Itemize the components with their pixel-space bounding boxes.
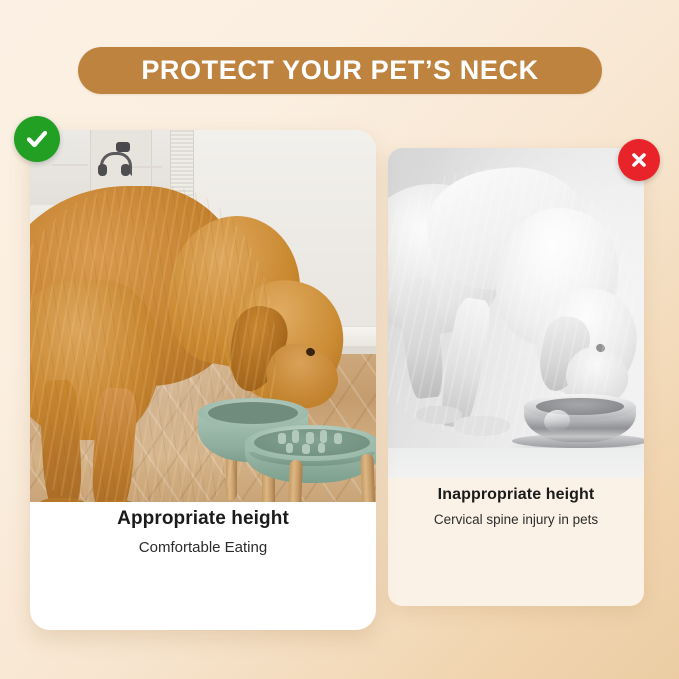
check-icon (24, 126, 50, 152)
page-title: PROTECT YOUR PET’S NECK (141, 55, 538, 86)
slow-feeder-nub (286, 443, 293, 453)
headphone-cup-left (98, 164, 107, 176)
slow-feeder-nub (320, 430, 327, 443)
rear-bowl-interior (208, 402, 298, 424)
cabinet-knob (116, 142, 130, 152)
caption-title-inappropriate: Inappropriate height (388, 486, 644, 504)
comparison-card-appropriate: Appropriate height Comfortable Eating (30, 130, 376, 630)
photo-dog-elevated-bowl (30, 130, 376, 502)
stand-leg-front-right (360, 454, 376, 502)
caption-subtitle-appropriate: Comfortable Eating (30, 539, 376, 557)
caption-appropriate: Appropriate height Comfortable Eating (30, 508, 376, 557)
slow-feeder-nub (292, 430, 299, 443)
bad-photo-light-vignette (388, 148, 644, 478)
cabinet-seam-right (132, 166, 162, 168)
poster-canvas: PROTECT YOUR PET’S NECK (0, 0, 679, 679)
slow-feeder-nub (302, 444, 310, 454)
caption-title-appropriate: Appropriate height (30, 508, 376, 530)
headphone-cup-right (121, 164, 130, 176)
comparison-card-inappropriate: Inappropriate height Cervical spine inju… (388, 148, 644, 606)
close-icon (629, 150, 649, 170)
cabinet-seam-left (52, 164, 88, 166)
photo-dog-floor-bowl (388, 148, 644, 478)
slow-feeder-nub (318, 443, 325, 453)
slow-feeder-nub (334, 433, 342, 444)
caption-inappropriate: Inappropriate height Cervical spine inju… (388, 486, 644, 529)
slow-feeder-nub (306, 432, 314, 444)
x-badge (618, 139, 660, 181)
caption-subtitle-inappropriate: Cervical spine injury in pets (388, 512, 644, 528)
check-badge (14, 116, 60, 162)
stand-leg-front-left (286, 460, 303, 502)
slow-feeder-nub (278, 433, 286, 444)
header-banner: PROTECT YOUR PET’S NECK (78, 47, 602, 94)
